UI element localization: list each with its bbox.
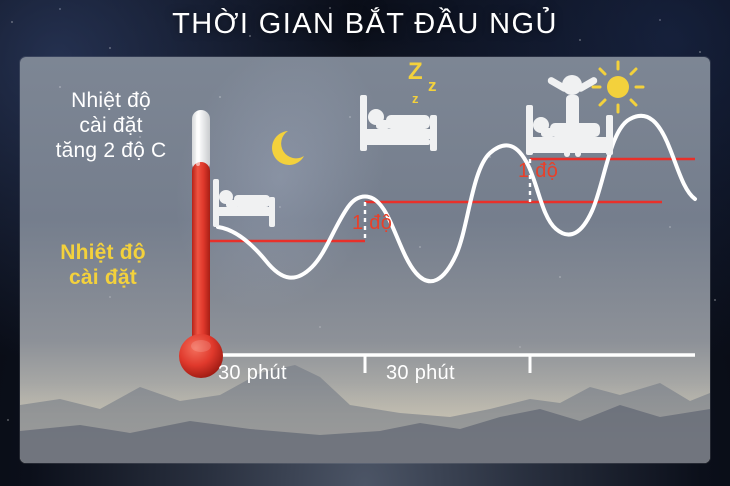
zzz-icon: Z z z	[408, 58, 437, 106]
setpoint-raised-line-2: cài đặt	[36, 113, 186, 138]
interval-label-1: 30 phút	[218, 362, 287, 385]
setpoint-raised-line-1: Nhiệt độ	[36, 88, 186, 113]
bed-sleeping-person-zzz-icon	[360, 95, 437, 151]
degree-step-label-2: 1 độ	[518, 160, 558, 183]
svg-text:z: z	[412, 91, 419, 106]
setpoint-label: Nhiệt độ cài đặt	[28, 240, 178, 290]
infographic-stage: THỜI GIAN BẮT ĐẦU NGỦ	[0, 0, 730, 486]
sun-icon	[593, 62, 643, 112]
degree-step-label-1: 1 độ	[352, 212, 392, 235]
setpoint-raised-line-3: tăng 2 độ C	[36, 138, 186, 163]
svg-text:z: z	[428, 76, 437, 95]
interval-label-2: 30 phút	[386, 362, 455, 385]
temperature-curve	[218, 116, 695, 281]
setpoint-line-1: Nhiệt độ	[28, 240, 178, 265]
svg-text:Z: Z	[408, 58, 423, 85]
page-title: THỜI GIAN BẮT ĐẦU NGỦ	[0, 8, 730, 41]
crescent-moon-icon	[272, 131, 304, 165]
setpoint-raised-label: Nhiệt độ cài đặt tăng 2 độ C	[36, 88, 186, 163]
setpoint-line-2: cài đặt	[28, 265, 178, 290]
